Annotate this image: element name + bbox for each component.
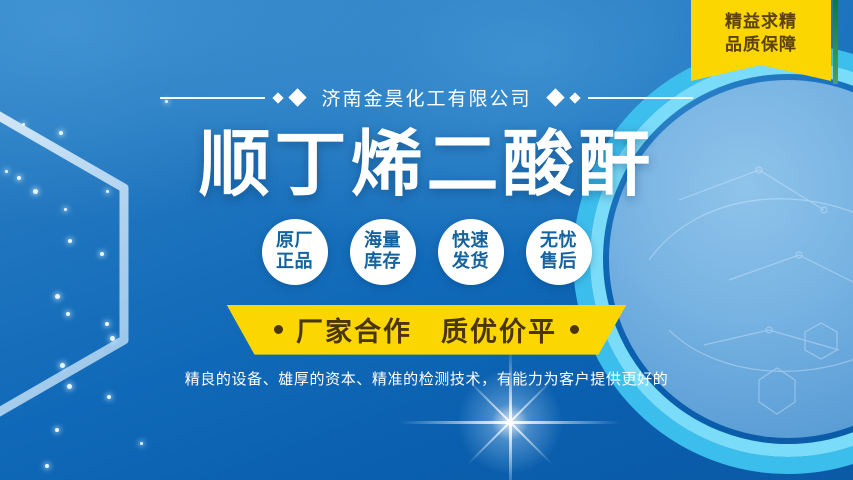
product-promo-banner: 精益求精 品质保障 济南金昊化工有限公司 顺丁烯二酸酐 原厂 正品 海量 库存: [0, 0, 853, 480]
feature-badge[interactable]: 原厂 正品: [262, 219, 328, 285]
feature-badge[interactable]: 无忧 售后: [526, 219, 592, 285]
ribbon-line-1: 精益求精: [697, 11, 825, 34]
rule-right: [588, 97, 693, 99]
badge-line-2: 售后: [540, 252, 577, 272]
bullet-left-icon: [274, 325, 283, 334]
diamond-big-right-icon: [546, 88, 564, 106]
particle-dot: [45, 464, 49, 468]
ribbon-body: 精益求精 品质保障: [691, 0, 831, 65]
ribbon-tail-notch: [691, 65, 831, 81]
feature-badge-list: 原厂 正品 海量 库存 快速 发货 无忧 售后: [0, 219, 853, 285]
badge-line-1: 快速: [452, 231, 489, 251]
particle-dot: [107, 395, 111, 399]
badge-line-1: 原厂: [276, 231, 313, 251]
diamond-big-left-icon: [289, 88, 307, 106]
slogan-text: 厂家合作 质优价平: [296, 310, 557, 349]
particle-dot: [140, 442, 143, 445]
company-name-row: 济南金昊化工有限公司: [0, 84, 853, 111]
slogan-bar: 厂家合作 质优价平: [212, 305, 642, 355]
quality-ribbon-tag: 精益求精 品质保障: [691, 0, 831, 81]
company-name: 济南金昊化工有限公司: [321, 84, 531, 111]
slogan-bar-wrap: 厂家合作 质优价平: [0, 305, 853, 355]
feature-badge[interactable]: 海量 库存: [350, 219, 416, 285]
rule-left: [160, 97, 265, 99]
badge-line-1: 无忧: [540, 231, 577, 251]
ribbon-green-edge: [833, 0, 838, 84]
badge-line-1: 海量: [364, 231, 401, 251]
ribbon-line-2: 品质保障: [697, 34, 825, 57]
particle-dot: [55, 428, 59, 432]
diamond-small-left-icon: [273, 92, 284, 103]
product-title: 顺丁烯二酸酐: [0, 127, 853, 203]
footer-description: 精良的设备、雄厚的资本、精准的检测技术，有能力为客户提供更好的: [0, 368, 853, 389]
feature-badge[interactable]: 快速 发货: [438, 219, 504, 285]
sparkle-glow-icon: [470, 382, 550, 462]
bullet-right-icon: [570, 325, 579, 334]
badge-line-2: 正品: [276, 252, 313, 272]
badge-line-2: 库存: [364, 252, 401, 272]
badge-line-2: 发货: [452, 252, 489, 272]
diamond-small-right-icon: [569, 92, 580, 103]
